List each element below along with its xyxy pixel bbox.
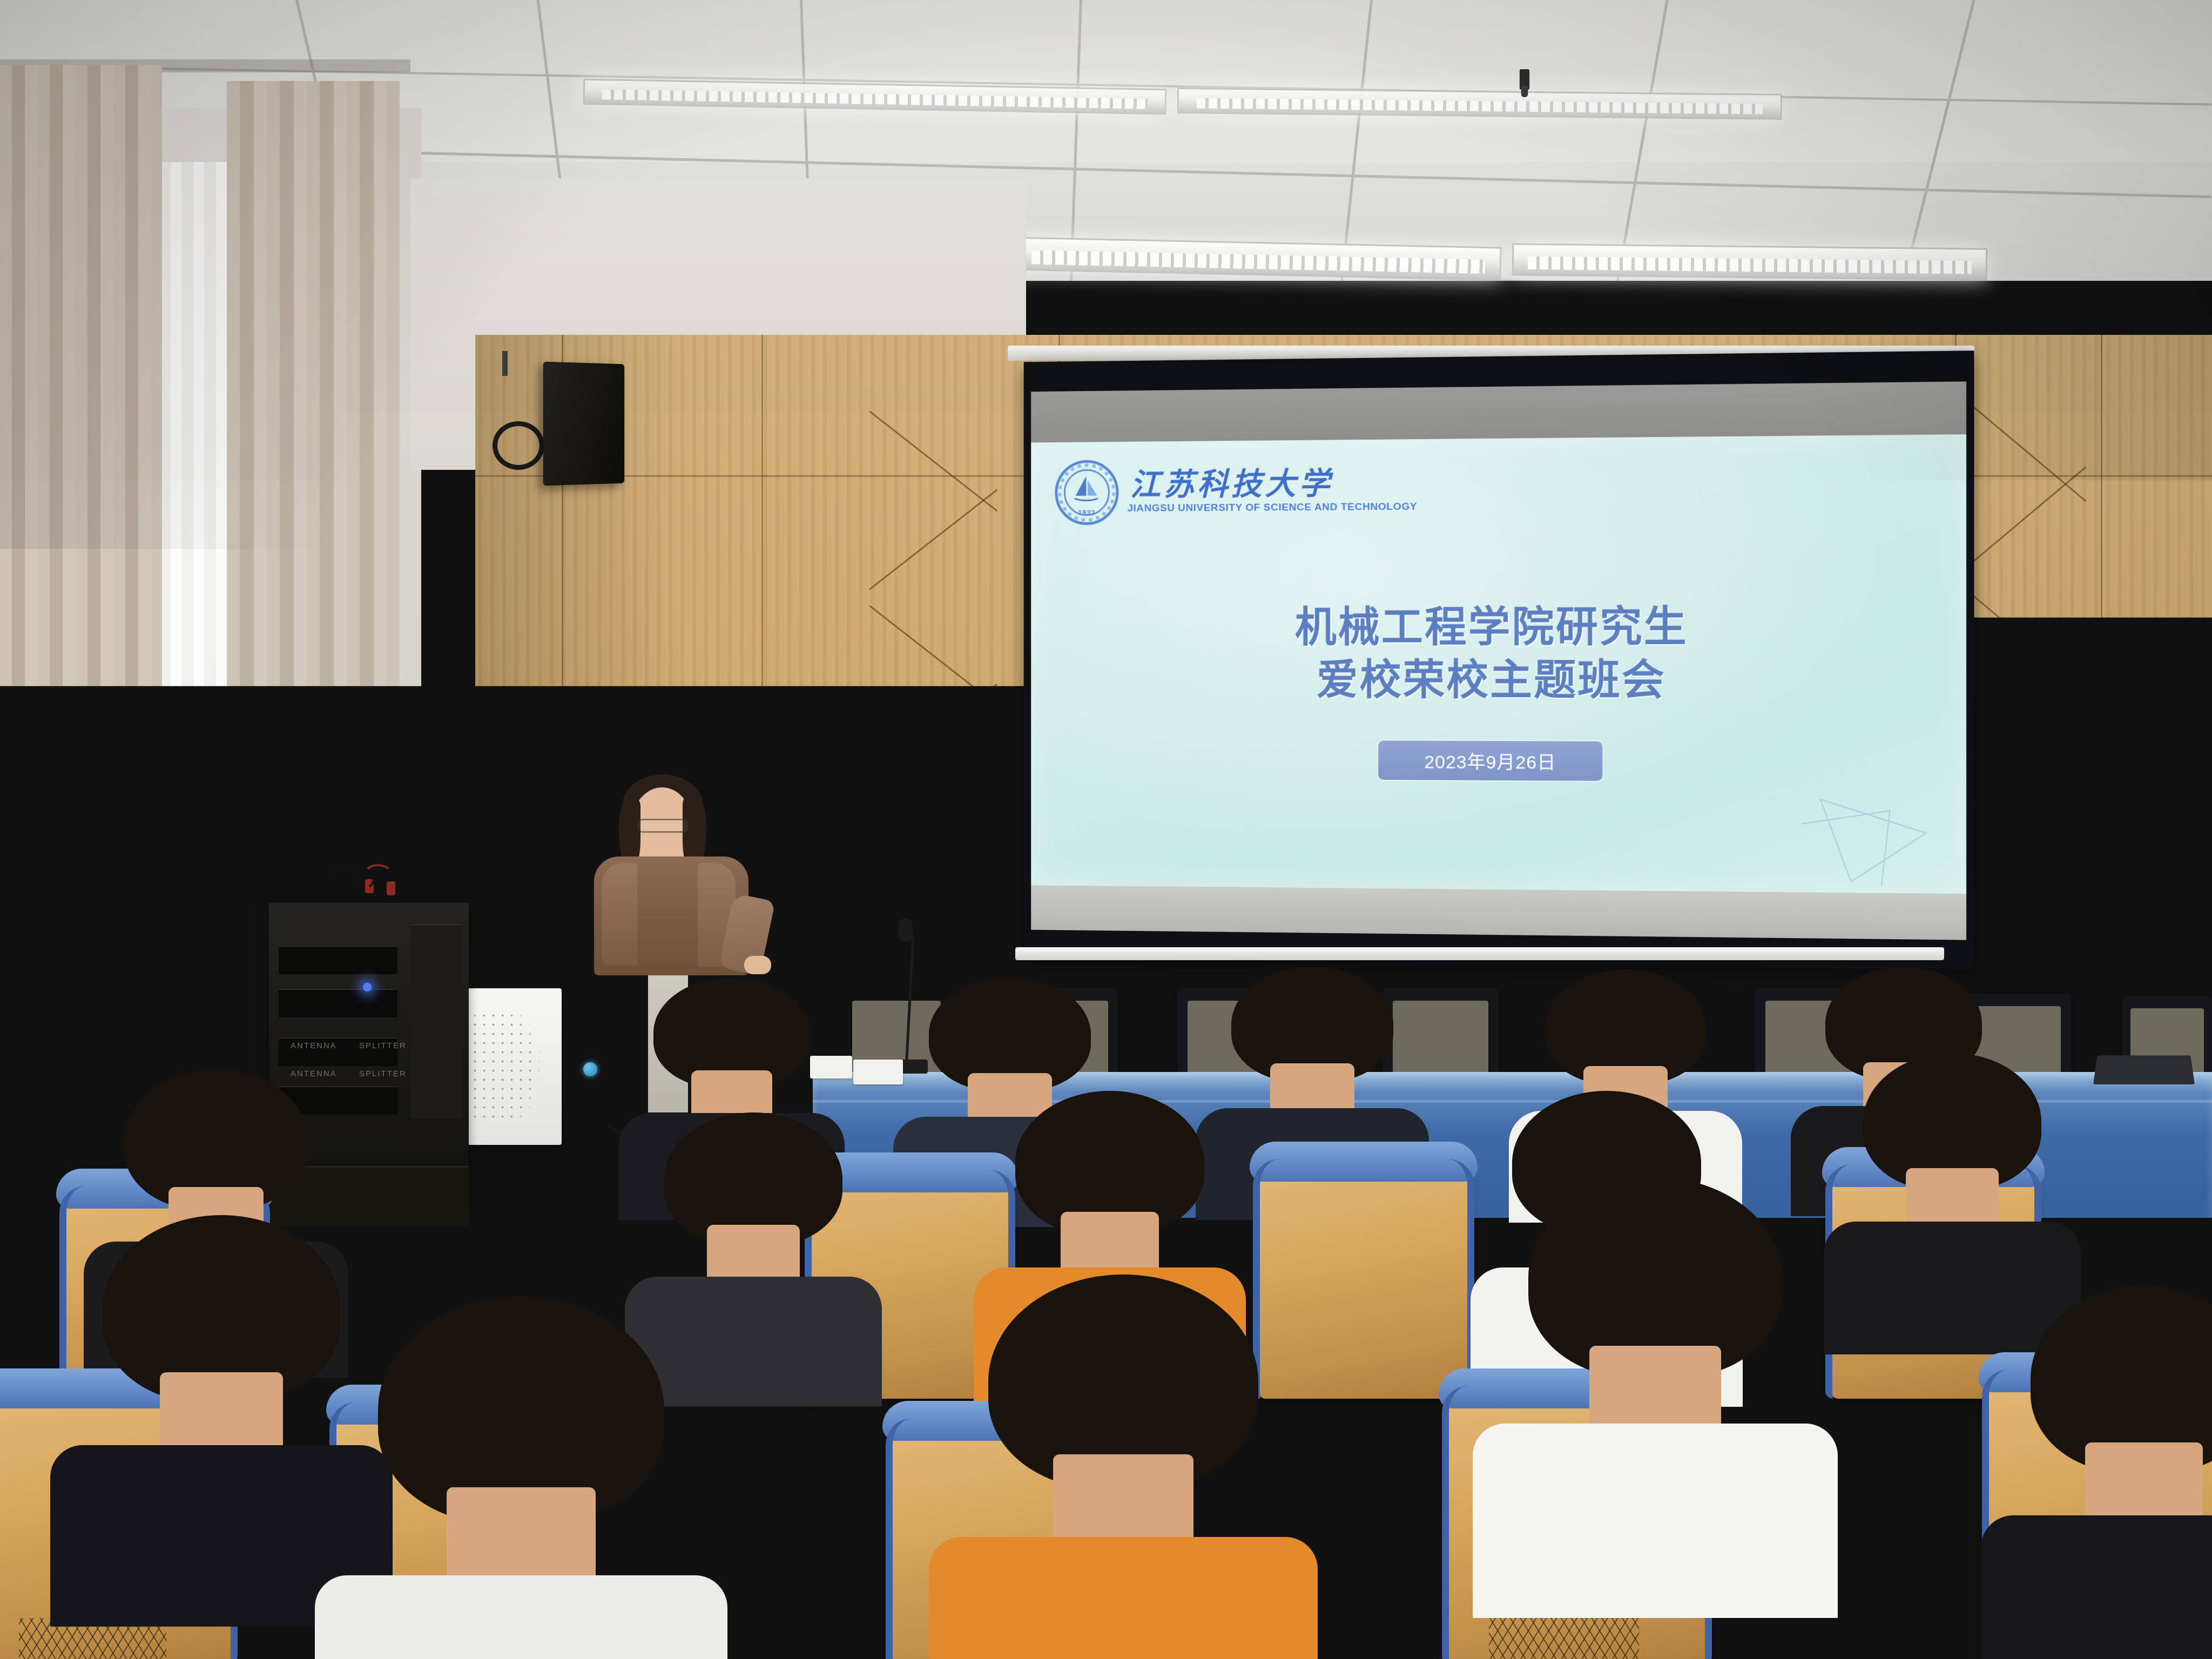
university-name-en: JIANGSU UNIVERSITY OF SCIENCE AND TECHNO… [1128, 501, 1418, 515]
sprinkler-head-icon [1520, 69, 1529, 90]
projection-screen[interactable]: 1933 江苏科技大学 JIANGSU UNIVERSITY OF SCIENC… [1024, 350, 1974, 970]
lecture-hall-photo: 1933 江苏科技大学 JIANGSU UNIVERSITY OF SCIENC… [0, 0, 2212, 1659]
wall-chevron-line [1965, 400, 2086, 502]
sailboat-icon [1071, 474, 1101, 503]
slide-date-badge: 2023年9月26日 [1378, 740, 1603, 781]
rack-patch-cable [363, 864, 393, 888]
audience-person [378, 1296, 664, 1659]
university-logo: 1933 江苏科技大学 JIANGSU UNIVERSITY OF SCIENC… [1055, 457, 1414, 525]
ceiling-light-fixture [1512, 243, 1988, 280]
seat-headrest-pad [1250, 1142, 1478, 1182]
curtain-panel-left[interactable] [0, 65, 162, 1091]
wall-chevron-line [869, 799, 997, 900]
slide-decoration-icon [1798, 794, 1937, 888]
auditorium-seat[interactable] [1258, 1156, 1469, 1399]
wall-chevron-line [869, 684, 997, 785]
screen-bottom-letterbox [1031, 885, 1966, 940]
slide-title: 机械工程学院研究生 爱校荣校主题班会 [1031, 599, 1966, 707]
speaker-bracket [502, 351, 508, 376]
office-chair[interactable] [16, 1042, 108, 1177]
microphone-head-icon [899, 918, 913, 942]
presenter-hand [744, 956, 771, 974]
rack-status-led [363, 983, 372, 992]
name-card [810, 1056, 852, 1078]
wall-chevron-line [1965, 845, 2086, 947]
wall-chevron-line [869, 410, 997, 511]
presentation-slide[interactable]: 1933 江苏科技大学 JIANGSU UNIVERSITY OF SCIENC… [1031, 434, 1966, 894]
rack-label-splitter-2: SPLITTER [359, 1069, 407, 1078]
audience-person [1863, 1053, 2041, 1274]
presenter-glasses-icon [637, 819, 688, 833]
slide-title-line2: 爱校荣校主题班会 [1031, 653, 1966, 707]
audience-person [988, 1274, 1258, 1620]
slide-title-line1: 机械工程学院研究生 [1031, 599, 1966, 654]
person-shoulders [1473, 1424, 1838, 1618]
audience-person [103, 1215, 340, 1518]
audience-person [664, 1112, 842, 1328]
rack-label-antenna-1: ANTENNA [291, 1041, 337, 1050]
rack-side-door[interactable] [410, 925, 462, 1119]
office-chair-back [11, 1040, 89, 1158]
wall-chevron-line [1965, 589, 2086, 691]
person-shoulders [315, 1575, 727, 1659]
wall-speaker-icon [543, 362, 624, 486]
presenter [572, 772, 767, 967]
seat-net-pocket [1489, 1618, 1639, 1659]
projection-screen-weight-bar [1015, 947, 1944, 960]
wall-chevron-line [1965, 467, 2086, 569]
wall-panel-seam [2101, 335, 2102, 1107]
university-seal-icon: 1933 [1055, 460, 1118, 525]
rack-unit [279, 946, 397, 974]
speaker-cable-coil [493, 421, 544, 470]
university-name-cn: 江苏科技大学 [1130, 468, 1414, 501]
seal-year: 1933 [1055, 508, 1118, 516]
person-shoulders [1981, 1515, 2212, 1659]
screen-letterbox-band [1031, 381, 1966, 442]
person-shoulders [929, 1537, 1318, 1659]
wall-chevron-line [869, 605, 997, 706]
audience-person [2031, 1285, 2212, 1588]
wall-chevron-line [869, 878, 997, 979]
audience-person [1231, 967, 1393, 1153]
wall-chevron-line [1965, 778, 2086, 880]
rack-label-splitter-1: SPLITTER [359, 1041, 407, 1050]
rack-unit [279, 989, 397, 1017]
seat-trim [1253, 1159, 1474, 1399]
name-card [853, 1060, 903, 1084]
wall-chevron-line [1965, 656, 2086, 758]
university-name-block: 江苏科技大学 JIANGSU UNIVERSITY OF SCIENCE AND… [1130, 468, 1414, 515]
wall-chevron-line [869, 489, 997, 590]
presenter-blouse-ruffle-left [602, 863, 637, 966]
audience-person [1528, 1177, 1782, 1501]
